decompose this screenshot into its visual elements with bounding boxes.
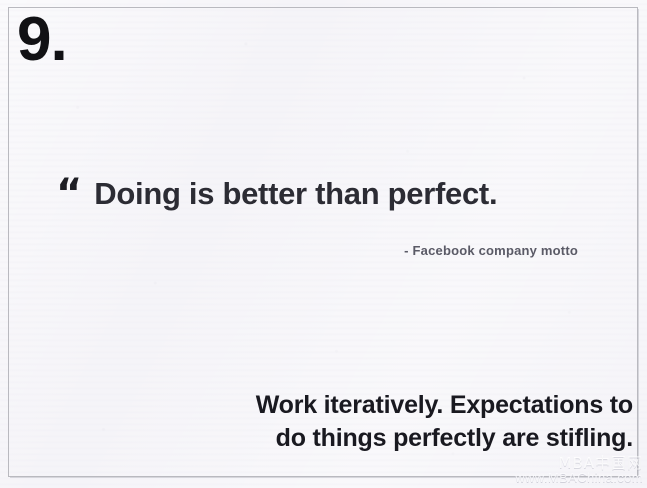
watermark: MBA中国网 www.MBAChina.com: [515, 455, 643, 486]
watermark-brand: MBA中国网: [515, 455, 643, 472]
watermark-url: www.MBAChina.com: [515, 471, 643, 486]
quote-block: “ Doing is better than perfect.: [56, 177, 497, 210]
takeaway-line-2: do things perfectly are stifling.: [0, 422, 633, 455]
quote-text: Doing is better than perfect.: [94, 177, 497, 210]
slide-number: 9.: [17, 7, 67, 72]
presentation-slide: 9. “ Doing is better than perfect. - Fac…: [0, 0, 647, 488]
takeaway-line-1: Work iteratively. Expectations to: [0, 389, 633, 422]
takeaway-block: Work iteratively. Expectations to do thi…: [0, 389, 633, 454]
quote-attribution: - Facebook company motto: [0, 243, 578, 258]
opening-quotation-mark-icon: “: [56, 180, 82, 209]
